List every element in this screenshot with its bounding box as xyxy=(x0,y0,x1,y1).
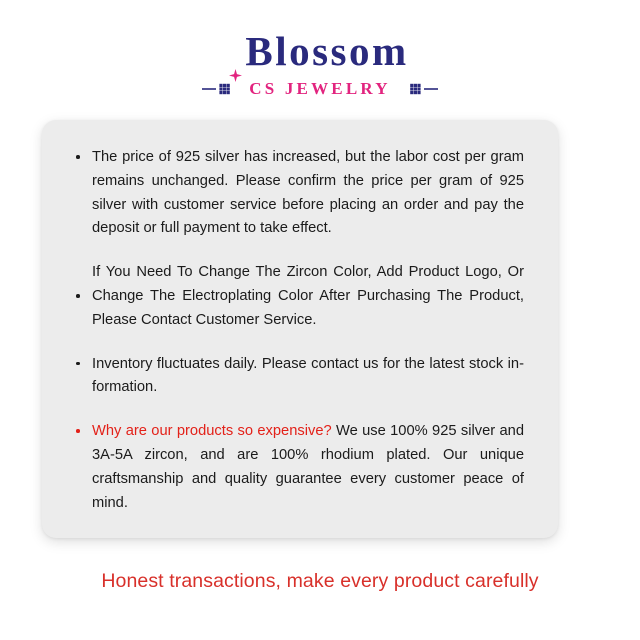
list-item-customization-notice: If You Need To Change The Zircon Color, … xyxy=(76,261,524,332)
list-item-text: If You Need To Change The Zircon Color, … xyxy=(92,264,524,328)
notice-bullet-list: The price of 925 silver has increased, b… xyxy=(42,146,558,515)
diamond-sparkle-icon xyxy=(229,47,242,60)
list-item-highlight-question: Why are our products so expensive? xyxy=(92,423,332,439)
list-item-pricing-explanation: Why are our products so expensive? We us… xyxy=(76,420,524,515)
list-item-text: The price of 925 silver has increased, b… xyxy=(92,149,524,236)
snowflake-ornament-icon-right xyxy=(398,80,438,98)
bullet-dot-icon xyxy=(76,294,80,298)
bullet-dot-icon xyxy=(76,362,80,366)
list-item-text: Inventory fluctuates daily. Please conta… xyxy=(92,356,524,396)
brand-logo-block: Blossom CS JEWELRY xyxy=(0,0,640,99)
brand-name-text: Blossom xyxy=(245,28,408,74)
footer-tagline: Honest transactions, make every product … xyxy=(0,570,640,593)
notice-card: The price of 925 silver has increased, b… xyxy=(42,120,558,538)
snowflake-ornament-icon-left xyxy=(202,80,242,98)
brand-name: Blossom xyxy=(231,30,408,73)
bullet-dot-icon xyxy=(76,429,80,433)
brand-subtitle-row: CS JEWELRY xyxy=(0,79,640,99)
list-item-inventory-notice: Inventory fluctuates daily. Please conta… xyxy=(76,353,524,401)
list-item-price-notice: The price of 925 silver has increased, b… xyxy=(76,146,524,241)
bullet-dot-icon xyxy=(76,155,80,159)
brand-subtitle-text: CS JEWELRY xyxy=(249,79,390,99)
